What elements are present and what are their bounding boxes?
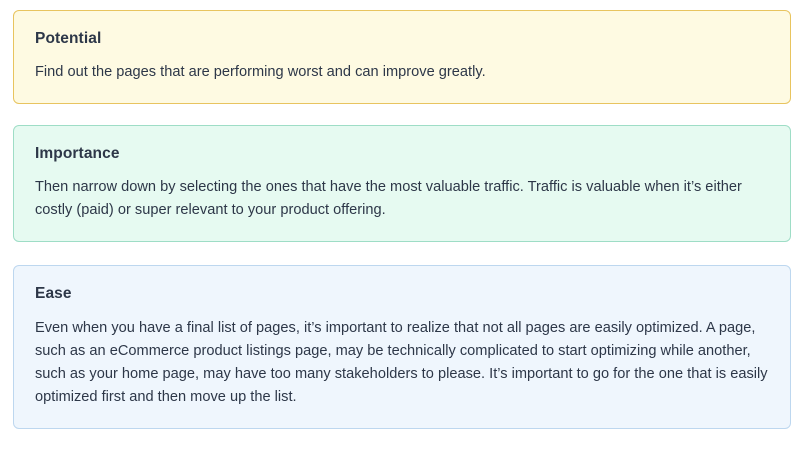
card-ease-title: Ease xyxy=(35,284,769,304)
card-ease-body: Even when you have a final list of pages… xyxy=(35,317,769,409)
card-potential: Potential Find out the pages that are pe… xyxy=(13,10,791,104)
info-cards-stack: Potential Find out the pages that are pe… xyxy=(0,0,804,440)
card-importance-title: Importance xyxy=(35,144,769,164)
card-importance-body: Then narrow down by selecting the ones t… xyxy=(35,176,769,222)
card-importance: Importance Then narrow down by selecting… xyxy=(13,125,791,242)
card-potential-body: Find out the pages that are performing w… xyxy=(35,61,769,84)
card-ease: Ease Even when you have a final list of … xyxy=(13,265,791,428)
card-potential-title: Potential xyxy=(35,29,769,49)
